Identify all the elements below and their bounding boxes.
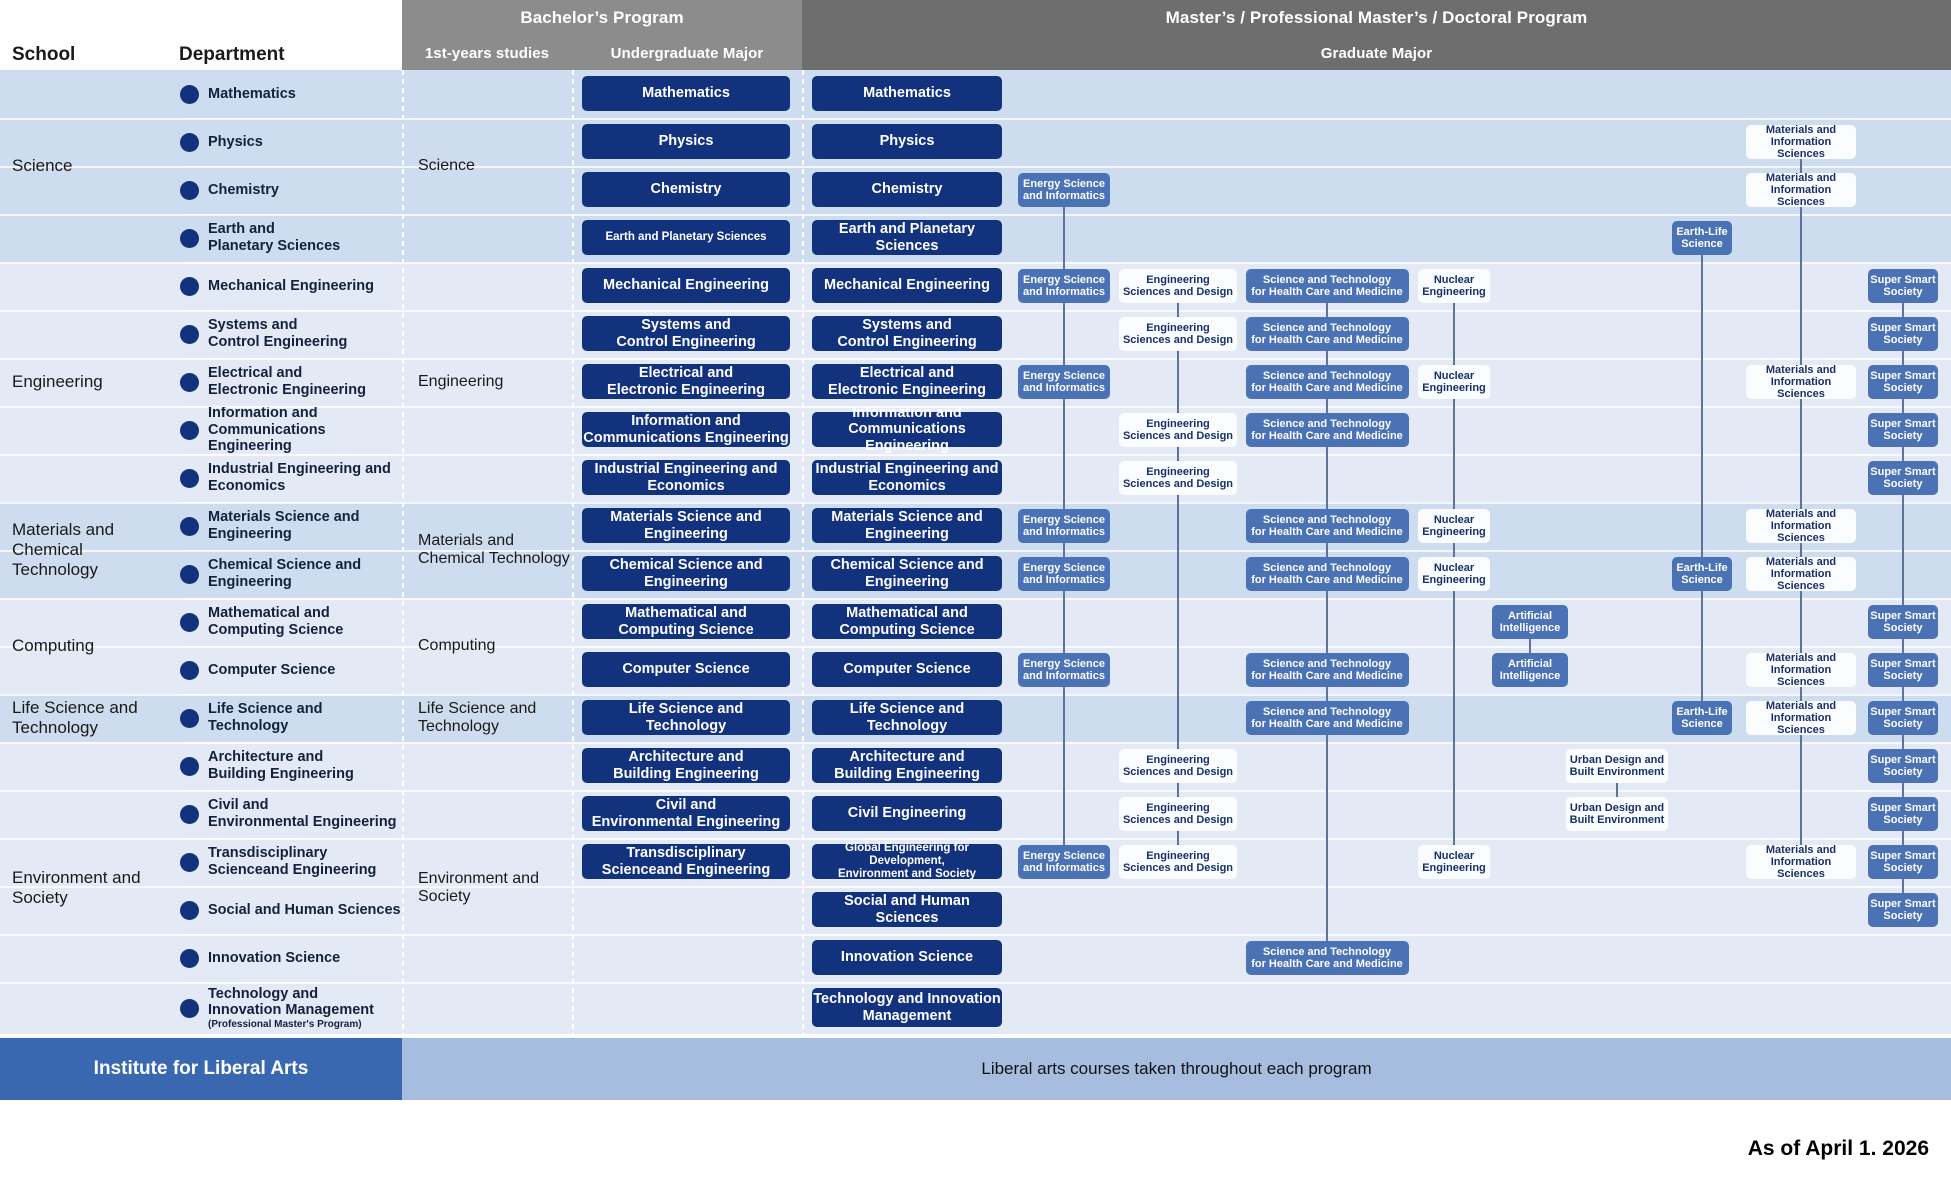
interdisciplinary-box-engineering-sciences-and-design[interactable]: EngineeringSciences and Design [1119,797,1237,831]
undergraduate-major-box[interactable]: Mathematics [582,76,790,111]
first-year-cell-5: Environment andSociety [402,742,572,1034]
liberal-arts-courses-bar: Liberal arts courses taken throughout ea… [402,1038,1951,1100]
undergraduate-major-box[interactable]: Systems andControl Engineering [582,316,790,351]
column-divider [572,70,574,1034]
first-year-cell-0: Science [402,70,572,262]
school-label: Computing [12,636,94,656]
department-label: Civil andEnvironmental Engineering [208,797,397,830]
department-row-16[interactable]: TransdisciplinaryScienceand Engineering [172,838,402,886]
interdisciplinary-box-super-smart-society[interactable]: Super SmartSociety [1868,701,1938,735]
graduate-major-box[interactable]: Physics [812,124,1002,159]
interdisciplinary-box-engineering-sciences-and-design[interactable]: EngineeringSciences and Design [1119,845,1237,879]
department-label: TransdisciplinaryScienceand Engineering [208,845,376,878]
department-bullet-icon [180,181,199,200]
department-column-label: Department [179,44,285,66]
department-row-14[interactable]: Architecture andBuilding Engineering [172,742,402,790]
undergraduate-major-box[interactable]: Physics [582,124,790,159]
interdisciplinary-box-materials-and-information-sciences[interactable]: Materials andInformation Sciences [1746,557,1856,591]
department-label: Earth andPlanetary Sciences [208,221,340,254]
department-bullet-icon [180,229,199,248]
department-note: (Professional Master's Program) [208,1019,374,1031]
graduate-major-box[interactable]: Industrial Engineering andEconomics [812,460,1002,495]
department-label: Mathematical andComputing Science [208,605,343,638]
department-separator [182,790,392,791]
department-row-4[interactable]: Mechanical Engineering [172,262,402,310]
graduate-major-box[interactable]: Mathematical andComputing Science [812,604,1002,639]
interdisciplinary-box-materials-and-information-sciences[interactable]: Materials andInformation Sciences [1746,653,1856,687]
department-label: Mechanical Engineering [208,278,374,295]
department-separator [182,454,392,455]
organization-chart: Bachelor’s ProgramMaster’s / Professiona… [0,0,1951,1177]
department-bullet-icon [180,901,199,920]
interdisciplinary-box-science-and-technology-for-health-care-and-medicine[interactable]: Science and Technologyfor Health Care an… [1246,653,1409,687]
undergraduate-major-header: Undergraduate Major [572,36,802,70]
undergraduate-major-box[interactable]: Chemistry [582,172,790,207]
department-bullet-icon [180,277,199,296]
interdisciplinary-box-energy-science-and-informatics[interactable]: Energy Scienceand Informatics [1018,557,1110,591]
interdisciplinary-box-energy-science-and-informatics[interactable]: Energy Scienceand Informatics [1018,173,1110,207]
department-bullet-icon [180,853,199,872]
school-cell-2: Materials andChemical Technology [0,502,172,598]
undergraduate-major-box[interactable]: Information andCommunications Engineerin… [582,412,790,447]
department-separator [182,214,392,215]
interdisciplinary-box-science-and-technology-for-health-care-and-medicine[interactable]: Science and Technologyfor Health Care an… [1246,941,1409,975]
graduate-major-box[interactable]: Technology and InnovationManagement [812,988,1002,1027]
department-row-2[interactable]: Chemistry [172,166,402,214]
undergraduate-major-box[interactable]: TransdisciplinaryScienceand Engineering [582,844,790,879]
department-separator [182,406,392,407]
interdisciplinary-box-science-and-technology-for-health-care-and-medicine[interactable]: Science and Technologyfor Health Care an… [1246,509,1409,543]
department-row-10[interactable]: Chemical Science andEngineering [172,550,402,598]
interdisciplinary-box-energy-science-and-informatics[interactable]: Energy Scienceand Informatics [1018,845,1110,879]
interdisciplinary-box-materials-and-information-sciences[interactable]: Materials andInformation Sciences [1746,845,1856,879]
graduate-major-box[interactable]: Civil Engineering [812,796,1002,831]
department-bullet-icon [180,373,199,392]
interdisciplinary-box-super-smart-society[interactable]: Super SmartSociety [1868,413,1938,447]
department-label: Chemical Science andEngineering [208,557,361,590]
graduate-major-box[interactable]: Systems andControl Engineering [812,316,1002,351]
school-cell-1: Engineering [0,262,172,502]
interdisciplinary-box-engineering-sciences-and-design[interactable]: EngineeringSciences and Design [1119,269,1237,303]
interdisciplinary-box-urban-design-and-built-environment[interactable]: Urban Design andBuilt Environment [1566,749,1668,783]
interdisciplinary-box-super-smart-society[interactable]: Super SmartSociety [1868,893,1938,927]
interdisciplinary-box-materials-and-information-sciences[interactable]: Materials andInformation Sciences [1746,701,1856,735]
interdisciplinary-box-nuclear-engineering[interactable]: NuclearEngineering [1418,269,1490,303]
department-label: Technology andInnovation Management(Prof… [208,986,374,1031]
graduate-major-box[interactable]: Social and Human Sciences [812,892,1002,927]
department-label: Materials Science andEngineering [208,509,360,542]
department-bullet-icon [180,613,199,632]
interdisciplinary-box-science-and-technology-for-health-care-and-medicine[interactable]: Science and Technologyfor Health Care an… [1246,557,1409,591]
interdisciplinary-box-engineering-sciences-and-design[interactable]: EngineeringSciences and Design [1119,317,1237,351]
undergraduate-major-box[interactable]: Life Science andTechnology [582,700,790,735]
department-row-7[interactable]: Information andCommunications Engineerin… [172,406,402,454]
department-row-8[interactable]: Industrial Engineering andEconomics [172,454,402,502]
undergraduate-major-box[interactable]: Architecture andBuilding Engineering [582,748,790,783]
department-bullet-icon [180,565,199,584]
department-label: Information andCommunications Engineerin… [208,405,402,455]
interdisciplinary-box-super-smart-society[interactable]: Super SmartSociety [1868,317,1938,351]
undergraduate-major-box[interactable]: Civil andEnvironmental Engineering [582,796,790,831]
department-label: Chemistry [208,182,279,199]
undergraduate-major-box[interactable]: Mechanical Engineering [582,268,790,303]
department-label: Architecture andBuilding Engineering [208,749,354,782]
interdisciplinary-box-nuclear-engineering[interactable]: NuclearEngineering [1418,557,1490,591]
interdisciplinary-box-earth-life-science[interactable]: Earth-LifeScience [1672,557,1732,591]
interdisciplinary-box-materials-and-information-sciences[interactable]: Materials andInformation Sciences [1746,365,1856,399]
department-row-5[interactable]: Systems andControl Engineering [172,310,402,358]
department-label: Systems andControl Engineering [208,317,347,350]
first-year-label: Engineering [418,373,503,391]
first-year-cell-3: Computing [402,598,572,694]
first-year-cell-4: Life Science andTechnology [402,694,572,742]
department-label: Life Science andTechnology [208,701,322,734]
graduate-major-box[interactable]: Mathematics [812,76,1002,111]
department-row-0[interactable]: Mathematics [172,70,402,118]
department-separator [182,934,392,935]
school-label: Environment andSociety [12,868,141,908]
interdisciplinary-box-nuclear-engineering[interactable]: NuclearEngineering [1418,509,1490,543]
department-bullet-icon [180,325,199,344]
department-separator [182,742,392,743]
undergraduate-major-box[interactable]: Earth and Planetary Sciences [582,220,790,255]
first-year-cell-1: Engineering [402,262,572,502]
department-row-17[interactable]: Social and Human Sciences [172,886,402,934]
interdisciplinary-box-super-smart-society[interactable]: Super SmartSociety [1868,749,1938,783]
department-separator [182,694,392,695]
department-bullet-icon [180,421,199,440]
first-year-label: Life Science andTechnology [418,700,536,736]
department-row-3[interactable]: Earth andPlanetary Sciences [172,214,402,262]
department-label: Mathematics [208,86,296,103]
interdisciplinary-box-science-and-technology-for-health-care-and-medicine[interactable]: Science and Technologyfor Health Care an… [1246,317,1409,351]
department-bullet-icon [180,133,199,152]
department-separator [182,982,392,983]
undergraduate-major-box[interactable]: Chemical Science andEngineering [582,556,790,591]
department-bullet-icon [180,85,199,104]
department-row-13[interactable]: Life Science andTechnology [172,694,402,742]
interdisciplinary-box-urban-design-and-built-environment[interactable]: Urban Design andBuilt Environment [1566,797,1668,831]
graduate-major-box[interactable]: Chemistry [812,172,1002,207]
interdisciplinary-box-engineering-sciences-and-design[interactable]: EngineeringSciences and Design [1119,749,1237,783]
department-separator [182,118,392,119]
connector-line-materials-and-information-sciences [1800,142,1802,862]
department-label: Industrial Engineering andEconomics [208,461,391,494]
graduate-major-box[interactable]: Architecture andBuilding Engineering [812,748,1002,783]
interdisciplinary-box-science-and-technology-for-health-care-and-medicine[interactable]: Science and Technologyfor Health Care an… [1246,413,1409,447]
graduate-major-box[interactable]: Computer Science [812,652,1002,687]
undergraduate-major-box[interactable]: Industrial Engineering andEconomics [582,460,790,495]
department-bullet-icon [180,757,199,776]
interdisciplinary-box-energy-science-and-informatics[interactable]: Energy Scienceand Informatics [1018,365,1110,399]
connector-line-earth-life-science [1701,238,1703,718]
first-year-label: Science [418,157,475,175]
undergraduate-major-box[interactable]: Electrical andElectronic Engineering [582,364,790,399]
department-label: Electrical andElectronic Engineering [208,365,366,398]
department-separator [182,166,392,167]
interdisciplinary-box-nuclear-engineering[interactable]: NuclearEngineering [1418,845,1490,879]
graduate-major-box[interactable]: Earth and Planetary Sciences [812,220,1002,255]
first-year-studies-header: 1st-years studies [402,36,572,70]
department-row-6[interactable]: Electrical andElectronic Engineering [172,358,402,406]
school-label: Science [12,156,72,176]
department-row-9[interactable]: Materials Science andEngineering [172,502,402,550]
department-separator [182,598,392,599]
graduate-program-header: Master’s / Professional Master’s / Docto… [802,0,1951,36]
interdisciplinary-box-artificial-intelligence[interactable]: ArtificialIntelligence [1492,653,1568,687]
school-cell-4: Life Science andTechnology [0,694,172,742]
school-column-label: School [12,44,75,66]
interdisciplinary-box-materials-and-information-sciences[interactable]: Materials andInformation Sciences [1746,125,1856,159]
undergraduate-major-box[interactable]: Materials Science andEngineering [582,508,790,543]
department-separator [182,502,392,503]
interdisciplinary-box-engineering-sciences-and-design[interactable]: EngineeringSciences and Design [1119,413,1237,447]
first-year-label: Computing [418,637,495,655]
school-cell-3: Computing [0,598,172,694]
department-row-1[interactable]: Physics [172,118,402,166]
interdisciplinary-box-earth-life-science[interactable]: Earth-LifeScience [1672,701,1732,735]
school-cell-5: Environment andSociety [0,742,172,1034]
department-bullet-icon [180,949,199,968]
interdisciplinary-box-super-smart-society[interactable]: Super SmartSociety [1868,845,1938,879]
graduate-major-box[interactable]: Electrical andElectronic Engineering [812,364,1002,399]
department-bullet-icon [180,661,199,680]
department-separator [182,358,392,359]
department-row-18[interactable]: Innovation Science [172,934,402,982]
interdisciplinary-box-science-and-technology-for-health-care-and-medicine[interactable]: Science and Technologyfor Health Care an… [1246,365,1409,399]
department-label: Computer Science [208,662,335,679]
interdisciplinary-box-science-and-technology-for-health-care-and-medicine[interactable]: Science and Technologyfor Health Care an… [1246,269,1409,303]
undergraduate-major-box[interactable]: Computer Science [582,652,790,687]
interdisciplinary-box-super-smart-society[interactable]: Super SmartSociety [1868,269,1938,303]
school-label: Life Science andTechnology [12,698,138,738]
interdisciplinary-box-super-smart-society[interactable]: Super SmartSociety [1868,653,1938,687]
first-year-cell-2: Materials andChemical Technology [402,502,572,598]
department-row-11[interactable]: Mathematical andComputing Science [172,598,402,646]
department-separator [182,550,392,551]
as-of-date: As of April 1. 2026 [1748,1137,1929,1161]
graduate-major-box[interactable]: Materials Science andEngineering [812,508,1002,543]
interdisciplinary-box-super-smart-society[interactable]: Super SmartSociety [1868,797,1938,831]
department-separator [182,262,392,263]
department-row-12[interactable]: Computer Science [172,646,402,694]
department-bullet-icon [180,805,199,824]
graduate-major-box[interactable]: Innovation Science [812,940,1002,975]
interdisciplinary-box-nuclear-engineering[interactable]: NuclearEngineering [1418,365,1490,399]
interdisciplinary-box-artificial-intelligence[interactable]: ArtificialIntelligence [1492,605,1568,639]
interdisciplinary-box-super-smart-society[interactable]: Super SmartSociety [1868,461,1938,495]
interdisciplinary-box-energy-science-and-informatics[interactable]: Energy Scienceand Informatics [1018,653,1110,687]
department-row-19[interactable]: Technology andInnovation Management(Prof… [172,982,402,1034]
institute-for-liberal-arts: Institute for Liberal Arts [0,1038,402,1100]
department-label: Innovation Science [208,950,340,967]
department-separator [182,310,392,311]
graduate-major-box[interactable]: Chemical Science andEngineering [812,556,1002,591]
first-year-label: Materials andChemical Technology [418,532,570,568]
bachelor-program-header: Bachelor’s Program [402,0,802,36]
first-year-label: Environment andSociety [418,870,539,906]
interdisciplinary-box-materials-and-information-sciences[interactable]: Materials andInformation Sciences [1746,173,1856,207]
interdisciplinary-box-earth-life-science[interactable]: Earth-LifeScience [1672,221,1732,255]
graduate-major-box[interactable]: Information andCommunications Engineerin… [812,412,1002,447]
interdisciplinary-box-science-and-technology-for-health-care-and-medicine[interactable]: Science and Technologyfor Health Care an… [1246,701,1409,735]
department-row-15[interactable]: Civil andEnvironmental Engineering [172,790,402,838]
school-label: Engineering [12,372,103,392]
department-bullet-icon [180,469,199,488]
department-separator [182,886,392,887]
school-cell-0: Science [0,70,172,262]
graduate-major-box[interactable]: Life Science andTechnology [812,700,1002,735]
interdisciplinary-box-super-smart-society[interactable]: Super SmartSociety [1868,365,1938,399]
interdisciplinary-box-super-smart-society[interactable]: Super SmartSociety [1868,605,1938,639]
interdisciplinary-box-materials-and-information-sciences[interactable]: Materials andInformation Sciences [1746,509,1856,543]
column-divider [802,70,804,1034]
department-separator [182,838,392,839]
department-bullet-icon [180,999,199,1018]
undergraduate-major-box[interactable]: Mathematical andComputing Science [582,604,790,639]
interdisciplinary-box-energy-science-and-informatics[interactable]: Energy Scienceand Informatics [1018,509,1110,543]
graduate-major-box[interactable]: Mechanical Engineering [812,268,1002,303]
department-separator [182,646,392,647]
interdisciplinary-box-energy-science-and-informatics[interactable]: Energy Scienceand Informatics [1018,269,1110,303]
interdisciplinary-box-engineering-sciences-and-design[interactable]: EngineeringSciences and Design [1119,461,1237,495]
department-bullet-icon [180,709,199,728]
department-bullet-icon [180,517,199,536]
department-label: Physics [208,134,263,151]
graduate-major-box[interactable]: Global Engineering for Development,Envir… [812,844,1002,879]
department-label: Social and Human Sciences [208,902,401,919]
school-label: Materials andChemical Technology [12,520,172,580]
graduate-major-header: Graduate Major [802,36,1951,70]
